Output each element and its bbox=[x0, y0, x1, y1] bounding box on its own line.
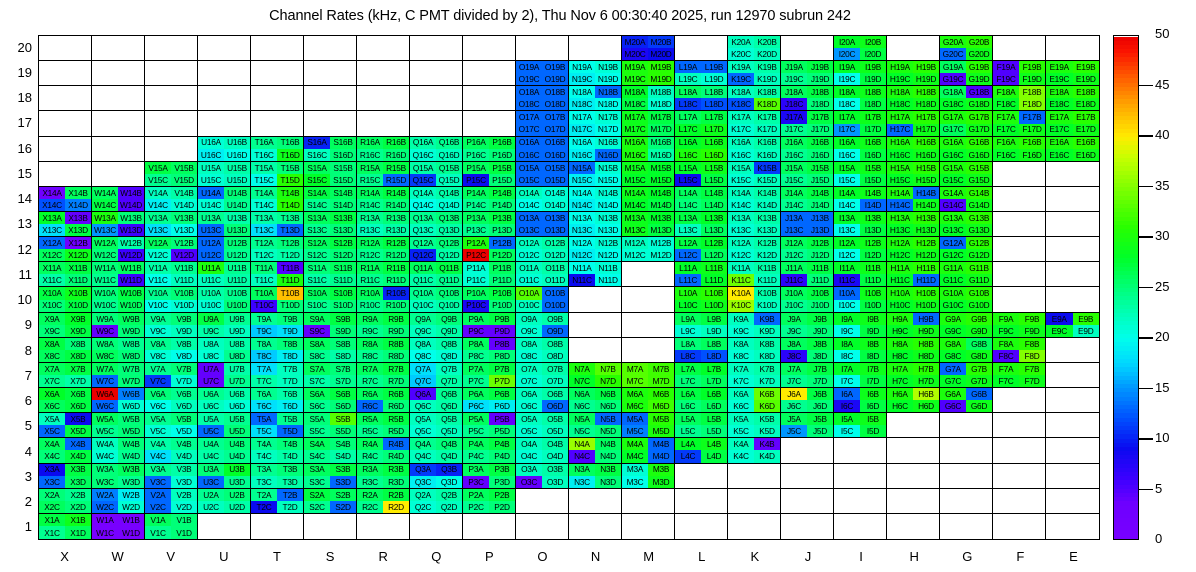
supercell-F8: F8AF8BF8CF8D bbox=[993, 338, 1046, 363]
channel-cell: X1C bbox=[39, 526, 65, 539]
channel-cell: U16C bbox=[198, 149, 224, 161]
supercell-L2 bbox=[675, 489, 728, 514]
channel-cell: F18C bbox=[993, 98, 1019, 110]
supercell-H5 bbox=[887, 413, 940, 438]
channel-cell: X4A bbox=[39, 438, 65, 450]
channel-cell-empty bbox=[1046, 375, 1073, 387]
supercell-L19: L19AL19BL19CL19D bbox=[675, 61, 728, 86]
channel-cell: Q7B bbox=[436, 363, 462, 375]
channel-cell-empty bbox=[330, 48, 356, 60]
channel-cell: T3D bbox=[277, 476, 303, 488]
channel-cell: K14B bbox=[754, 187, 780, 199]
channel-cell: U9A bbox=[198, 313, 224, 325]
channel-cell: T16C bbox=[251, 149, 277, 161]
channel-cell: R4D bbox=[383, 450, 409, 462]
channel-cell: M14A bbox=[622, 187, 648, 199]
channel-cell: J15D bbox=[807, 174, 833, 186]
channel-cell: H9A bbox=[887, 313, 913, 325]
channel-cell-empty bbox=[145, 86, 171, 98]
channel-cell: R5D bbox=[383, 425, 409, 437]
channel-cell: R5A bbox=[357, 413, 383, 425]
channel-cell-empty bbox=[224, 73, 250, 85]
supercell-J9: J9AJ9BJ9CJ9D bbox=[781, 313, 834, 338]
supercell-F5 bbox=[993, 413, 1046, 438]
supercell-X9: X9AX9BX9CX9D bbox=[39, 313, 92, 338]
channel-cell: I12A bbox=[834, 237, 860, 249]
channel-cell: G10C bbox=[940, 300, 966, 312]
channel-cell: K18C bbox=[728, 98, 754, 110]
channel-cell: X13C bbox=[39, 224, 65, 236]
supercell-W20 bbox=[92, 36, 145, 61]
channel-cell: P12B bbox=[489, 237, 515, 249]
channel-cell: P16D bbox=[489, 149, 515, 161]
channel-cell: S10C bbox=[304, 300, 330, 312]
colorbar-label-45: 45 bbox=[1155, 77, 1169, 92]
channel-cell: O7A bbox=[516, 363, 542, 375]
channel-cell: S6D bbox=[330, 400, 356, 412]
channel-cell: U3D bbox=[224, 476, 250, 488]
channel-cell: W2A bbox=[92, 489, 118, 501]
channel-cell-empty bbox=[648, 287, 674, 299]
channel-cell-empty bbox=[1019, 526, 1045, 539]
channel-cell: Q2A bbox=[410, 489, 436, 501]
channel-cell: F16D bbox=[1019, 149, 1045, 161]
channel-cell: P7A bbox=[463, 363, 489, 375]
supercell-R19 bbox=[357, 61, 410, 86]
channel-cell: G7B bbox=[966, 363, 992, 375]
channel-cell: J16D bbox=[807, 149, 833, 161]
channel-cell: T2B bbox=[277, 489, 303, 501]
channel-cell: O13D bbox=[542, 224, 568, 236]
channel-cell-empty bbox=[145, 73, 171, 85]
channel-cell: O11B bbox=[542, 262, 568, 274]
channel-cell: J7C bbox=[781, 375, 807, 387]
channel-cell: R4C bbox=[357, 450, 383, 462]
channel-cell-empty bbox=[65, 124, 91, 136]
supercell-V16 bbox=[145, 137, 198, 162]
channel-cell-empty bbox=[92, 98, 118, 110]
channel-cell-empty bbox=[940, 438, 966, 450]
channel-cell: U6C bbox=[198, 400, 224, 412]
channel-cell: M4C bbox=[622, 450, 648, 462]
channel-cell: X11A bbox=[39, 262, 65, 274]
channel-cell-empty bbox=[1073, 174, 1100, 186]
channel-cell-empty bbox=[277, 61, 303, 73]
channel-cell: P13B bbox=[489, 212, 515, 224]
channel-cell: E17B bbox=[1073, 111, 1100, 123]
channel-cell: H15B bbox=[913, 162, 939, 174]
supercell-N1 bbox=[569, 514, 622, 539]
channel-cell: N7A bbox=[569, 363, 595, 375]
channel-cell: J6C bbox=[781, 400, 807, 412]
channel-cell: H6B bbox=[913, 388, 939, 400]
channel-cell-empty bbox=[993, 187, 1019, 199]
supercell-O8: O8AO8BO8CO8D bbox=[516, 338, 569, 363]
channel-cell: G16D bbox=[966, 149, 992, 161]
channel-cell-empty bbox=[516, 501, 542, 513]
channel-cell-empty bbox=[940, 476, 966, 488]
channel-cell: X5A bbox=[39, 413, 65, 425]
channel-cell: R2A bbox=[357, 489, 383, 501]
supercell-M3: M3AM3BM3CM3D bbox=[622, 464, 675, 489]
y-axis-tick-18: 18 bbox=[2, 90, 32, 105]
supercell-J12: J12AJ12BJ12CJ12D bbox=[781, 237, 834, 262]
channel-cell-empty bbox=[913, 425, 939, 437]
channel-cell: U4B bbox=[224, 438, 250, 450]
channel-cell: O3A bbox=[516, 464, 542, 476]
y-axis-tick-19: 19 bbox=[2, 65, 32, 80]
channel-cell: M20A bbox=[622, 36, 648, 48]
supercell-G8: G8AG8BG8CG8D bbox=[940, 338, 993, 363]
x-axis-tick-F: F bbox=[1000, 549, 1040, 564]
channel-cell-empty bbox=[1046, 274, 1073, 286]
channel-cell: J9A bbox=[781, 313, 807, 325]
channel-cell-empty bbox=[834, 514, 860, 527]
channel-cell: L17A bbox=[675, 111, 701, 123]
channel-cell-empty bbox=[118, 48, 144, 60]
supercell-S16: S16AS16BS16CS16D bbox=[304, 137, 357, 162]
supercell-G20: G20AG20BG20CG20D bbox=[940, 36, 993, 61]
channel-cell: G18A bbox=[940, 86, 966, 98]
channel-cell: P6D bbox=[489, 400, 515, 412]
channel-cell: Q2B bbox=[436, 489, 462, 501]
channel-cell: T4A bbox=[251, 438, 277, 450]
channel-cell: I18D bbox=[860, 98, 886, 110]
chart-title: Channel Rates (kHz, C PMT divided by 2),… bbox=[0, 8, 1120, 24]
channel-cell-empty bbox=[728, 464, 754, 476]
channel-cell: H19B bbox=[913, 61, 939, 73]
supercell-R2: R2AR2BR2CR2D bbox=[357, 489, 410, 514]
channel-cell-empty bbox=[1073, 501, 1100, 513]
channel-cell: N17B bbox=[595, 111, 621, 123]
channel-cell: Q4B bbox=[436, 438, 462, 450]
channel-cell-empty bbox=[993, 489, 1019, 501]
channel-cell: K4C bbox=[728, 450, 754, 462]
channel-cell-empty bbox=[489, 514, 515, 527]
supercell-N10 bbox=[569, 287, 622, 312]
channel-cell: U14A bbox=[198, 187, 224, 199]
x-axis-tick-L: L bbox=[682, 549, 722, 564]
channel-cell: P4B bbox=[489, 438, 515, 450]
supercell-F3 bbox=[993, 464, 1046, 489]
channel-cell: U11C bbox=[198, 274, 224, 286]
channel-cell: T12C bbox=[251, 249, 277, 261]
channel-cell-empty bbox=[860, 464, 886, 476]
channel-cell-empty bbox=[569, 48, 595, 60]
supercell-Q11: Q11AQ11BQ11CQ11D bbox=[410, 262, 463, 287]
supercell-R15: R15AR15BR15CR15D bbox=[357, 162, 410, 187]
channel-cell: X10D bbox=[65, 300, 91, 312]
channel-cell: P12C bbox=[463, 249, 489, 261]
channel-cell-empty bbox=[357, 514, 383, 527]
channel-cell: V14A bbox=[145, 187, 171, 199]
channel-cell: T8D bbox=[277, 350, 303, 362]
channel-cell: L14B bbox=[701, 187, 727, 199]
channel-cell: S5D bbox=[330, 425, 356, 437]
channel-cell: P10C bbox=[463, 300, 489, 312]
supercell-M4: M4AM4BM4CM4D bbox=[622, 438, 675, 463]
channel-cell: U11A bbox=[198, 262, 224, 274]
channel-cell: R9A bbox=[357, 313, 383, 325]
channel-cell-empty bbox=[781, 501, 807, 513]
channel-cell: U7C bbox=[198, 375, 224, 387]
supercell-K10: K10AK10BK10CK10D bbox=[728, 287, 781, 312]
supercell-U3: U3AU3BU3CU3D bbox=[198, 464, 251, 489]
supercell-U9: U9AU9BU9CU9D bbox=[198, 313, 251, 338]
channel-cell: R14D bbox=[383, 199, 409, 211]
channel-cell: V2D bbox=[171, 501, 197, 513]
channel-cell: J7D bbox=[807, 375, 833, 387]
supercell-E2 bbox=[1046, 489, 1099, 514]
supercell-Q8: Q8AQ8BQ8CQ8D bbox=[410, 338, 463, 363]
channel-cell: R12A bbox=[357, 237, 383, 249]
channel-cell: O16B bbox=[542, 137, 568, 149]
channel-cell: V12C bbox=[145, 249, 171, 261]
channel-cell: G15A bbox=[940, 162, 966, 174]
channel-cell: O19A bbox=[516, 61, 542, 73]
channel-cell: H10B bbox=[913, 287, 939, 299]
channel-cell-empty bbox=[436, 36, 462, 48]
channel-cell: V15D bbox=[171, 174, 197, 186]
channel-cell: F19D bbox=[1019, 73, 1045, 85]
channel-cell: M15B bbox=[648, 162, 674, 174]
channel-cell-empty bbox=[224, 111, 250, 123]
channel-cell: L7D bbox=[701, 375, 727, 387]
channel-cell-empty bbox=[940, 526, 966, 539]
channel-cell: W12B bbox=[118, 237, 144, 249]
channel-cell-empty bbox=[330, 526, 356, 539]
channel-cell: L6B bbox=[701, 388, 727, 400]
channel-cell: G11B bbox=[966, 262, 992, 274]
y-axis-tick-8: 8 bbox=[2, 343, 32, 358]
colorbar-label-50: 50 bbox=[1155, 26, 1169, 41]
channel-cell: K6D bbox=[754, 400, 780, 412]
channel-cell-empty bbox=[383, 526, 409, 539]
supercell-F13 bbox=[993, 212, 1046, 237]
channel-cell-empty bbox=[145, 137, 171, 149]
channel-cell: G9A bbox=[940, 313, 966, 325]
channel-cell: S15B bbox=[330, 162, 356, 174]
channel-cell: X2D bbox=[65, 501, 91, 513]
supercell-J14: J14AJ14BJ14CJ14D bbox=[781, 187, 834, 212]
channel-cell: L4B bbox=[701, 438, 727, 450]
channel-cell: I12B bbox=[860, 237, 886, 249]
channel-cell: K16A bbox=[728, 137, 754, 149]
supercell-K18: K18AK18BK18CK18D bbox=[728, 86, 781, 111]
supercell-E4 bbox=[1046, 438, 1099, 463]
channel-cell: S2B bbox=[330, 489, 356, 501]
channel-cell: W3A bbox=[92, 464, 118, 476]
channel-cell: I6D bbox=[860, 400, 886, 412]
channel-cell: G13D bbox=[966, 224, 992, 236]
channel-cell: M13C bbox=[622, 224, 648, 236]
channel-cell: K19B bbox=[754, 61, 780, 73]
channel-cell: R8A bbox=[357, 338, 383, 350]
supercell-X15 bbox=[39, 162, 92, 187]
channel-cell: L6C bbox=[675, 400, 701, 412]
channel-cell: O16A bbox=[516, 137, 542, 149]
channel-cell: H11A bbox=[887, 262, 913, 274]
supercell-T14: T14AT14BT14CT14D bbox=[251, 187, 304, 212]
supercell-I4 bbox=[834, 438, 887, 463]
channel-cell: K11D bbox=[754, 274, 780, 286]
channel-cell: O5D bbox=[542, 425, 568, 437]
channel-cell: L5B bbox=[701, 413, 727, 425]
channel-cell: T6B bbox=[277, 388, 303, 400]
channel-cell: V6B bbox=[171, 388, 197, 400]
channel-cell-empty bbox=[383, 124, 409, 136]
channel-cell: S7A bbox=[304, 363, 330, 375]
channel-cell: I16A bbox=[834, 137, 860, 149]
supercell-O13: O13AO13BO13CO13D bbox=[516, 212, 569, 237]
channel-cell-empty bbox=[198, 111, 224, 123]
channel-cell-empty bbox=[1073, 464, 1100, 476]
channel-cell: F8B bbox=[1019, 338, 1045, 350]
channel-cell: K9B bbox=[754, 313, 780, 325]
supercell-F15 bbox=[993, 162, 1046, 187]
supercell-E7 bbox=[1046, 363, 1099, 388]
supercell-O12: O12AO12BO12CO12D bbox=[516, 237, 569, 262]
channel-cell-empty bbox=[1019, 464, 1045, 476]
supercell-W8: W8AW8BW8CW8D bbox=[92, 338, 145, 363]
channel-cell-empty bbox=[1019, 300, 1045, 312]
supercell-I15: I15AI15BI15CI15D bbox=[834, 162, 887, 187]
channel-cell: U9D bbox=[224, 325, 250, 337]
channel-cell: K17C bbox=[728, 124, 754, 136]
channel-cell: X6D bbox=[65, 400, 91, 412]
supercell-F17: F17AF17BF17CF17D bbox=[993, 111, 1046, 136]
supercell-F20 bbox=[993, 36, 1046, 61]
channel-cell: G15D bbox=[966, 174, 992, 186]
channel-cell: Q10A bbox=[410, 287, 436, 299]
channel-cell-empty bbox=[754, 476, 780, 488]
channel-cell-empty bbox=[595, 325, 621, 337]
channel-cell: L11C bbox=[675, 274, 701, 286]
channel-cell: O15C bbox=[516, 174, 542, 186]
channel-cell-empty bbox=[277, 73, 303, 85]
channel-cell: X14A bbox=[39, 187, 65, 199]
supercell-G19: G19AG19BG19CG19D bbox=[940, 61, 993, 86]
channel-cell: Q14D bbox=[436, 199, 462, 211]
supercell-M8 bbox=[622, 338, 675, 363]
channel-cell: N4D bbox=[595, 450, 621, 462]
channel-cell-empty bbox=[887, 450, 913, 462]
channel-cell: G12A bbox=[940, 237, 966, 249]
channel-cell-empty bbox=[569, 338, 595, 350]
supercell-W7: W7AW7BW7CW7D bbox=[92, 363, 145, 388]
channel-cell: U2D bbox=[224, 501, 250, 513]
channel-cell: T2A bbox=[251, 489, 277, 501]
channel-cell: Q4C bbox=[410, 450, 436, 462]
supercell-J1 bbox=[781, 514, 834, 539]
channel-cell: G10A bbox=[940, 287, 966, 299]
channel-cell-empty bbox=[39, 137, 65, 149]
supercell-P5: P5AP5BP5CP5D bbox=[463, 413, 516, 438]
channel-cell: N13C bbox=[569, 224, 595, 236]
channel-cell: J8C bbox=[781, 350, 807, 362]
channel-cell: O12B bbox=[542, 237, 568, 249]
channel-cell: K5D bbox=[754, 425, 780, 437]
channel-cell-empty bbox=[887, 464, 913, 476]
channel-cell: G8D bbox=[966, 350, 992, 362]
supercell-F7: F7AF7BF7CF7D bbox=[993, 363, 1046, 388]
channel-cell-empty bbox=[489, 48, 515, 60]
heatmap-grid: M20AM20BM20CM20DK20AK20BK20CK20DI20AI20B… bbox=[39, 36, 1099, 539]
channel-cell: G8C bbox=[940, 350, 966, 362]
channel-cell: L7C bbox=[675, 375, 701, 387]
channel-cell: X1D bbox=[65, 526, 91, 539]
channel-cell: G13B bbox=[966, 212, 992, 224]
channel-cell: X9A bbox=[39, 313, 65, 325]
channel-cell: K6B bbox=[754, 388, 780, 400]
channel-cell: S3C bbox=[304, 476, 330, 488]
channel-cell-empty bbox=[39, 98, 65, 110]
channel-cell: V10B bbox=[171, 287, 197, 299]
channel-cell-empty bbox=[913, 476, 939, 488]
channel-cell: P9D bbox=[489, 325, 515, 337]
channel-cell: L18D bbox=[701, 98, 727, 110]
channel-cell: W1A bbox=[92, 514, 118, 527]
supercell-X2: X2AX2BX2CX2D bbox=[39, 489, 92, 514]
channel-cell: Q8C bbox=[410, 350, 436, 362]
channel-cell: X3D bbox=[65, 476, 91, 488]
channel-cell: P10B bbox=[489, 287, 515, 299]
channel-cell-empty bbox=[781, 48, 807, 60]
colorbar-label-15: 15 bbox=[1155, 380, 1169, 395]
channel-cell: J9C bbox=[781, 325, 807, 337]
supercell-O15: O15AO15BO15CO15D bbox=[516, 162, 569, 187]
channel-cell: O4C bbox=[516, 450, 542, 462]
supercell-K7: K7AK7BK7CK7D bbox=[728, 363, 781, 388]
channel-cell: J10D bbox=[807, 300, 833, 312]
channel-cell-empty bbox=[1073, 300, 1100, 312]
channel-cell-empty bbox=[436, 73, 462, 85]
supercell-K3 bbox=[728, 464, 781, 489]
channel-cell: G12B bbox=[966, 237, 992, 249]
channel-cell: H8C bbox=[887, 350, 913, 362]
channel-cell: L19B bbox=[701, 61, 727, 73]
channel-cell: J16A bbox=[781, 137, 807, 149]
channel-cell-empty bbox=[436, 86, 462, 98]
supercell-V3: V3AV3BV3CV3D bbox=[145, 464, 198, 489]
channel-cell: W13B bbox=[118, 212, 144, 224]
channel-cell: U12B bbox=[224, 237, 250, 249]
supercell-L16: L16AL16BL16CL16D bbox=[675, 137, 728, 162]
channel-cell: R6B bbox=[383, 388, 409, 400]
channel-cell-empty bbox=[330, 36, 356, 48]
channel-cell: P4A bbox=[463, 438, 489, 450]
x-axis-tick-H: H bbox=[894, 549, 934, 564]
channel-cell: I9A bbox=[834, 313, 860, 325]
channel-cell: X5D bbox=[65, 425, 91, 437]
channel-cell: M3C bbox=[622, 476, 648, 488]
channel-cell-empty bbox=[728, 489, 754, 501]
channel-cell-empty bbox=[781, 36, 807, 48]
channel-cell: R3B bbox=[383, 464, 409, 476]
channel-cell-empty bbox=[39, 174, 65, 186]
channel-cell-empty bbox=[966, 476, 992, 488]
channel-cell: M7A bbox=[622, 363, 648, 375]
channel-cell: H13B bbox=[913, 212, 939, 224]
channel-cell-empty bbox=[251, 514, 277, 527]
channel-cell: H7A bbox=[887, 363, 913, 375]
supercell-U14: U14AU14BU14CU14D bbox=[198, 187, 251, 212]
channel-cell-empty bbox=[887, 425, 913, 437]
channel-cell: K14C bbox=[728, 199, 754, 211]
supercell-L12: L12AL12BL12CL12D bbox=[675, 237, 728, 262]
channel-cell-empty bbox=[198, 98, 224, 110]
channel-cell: V14D bbox=[171, 199, 197, 211]
